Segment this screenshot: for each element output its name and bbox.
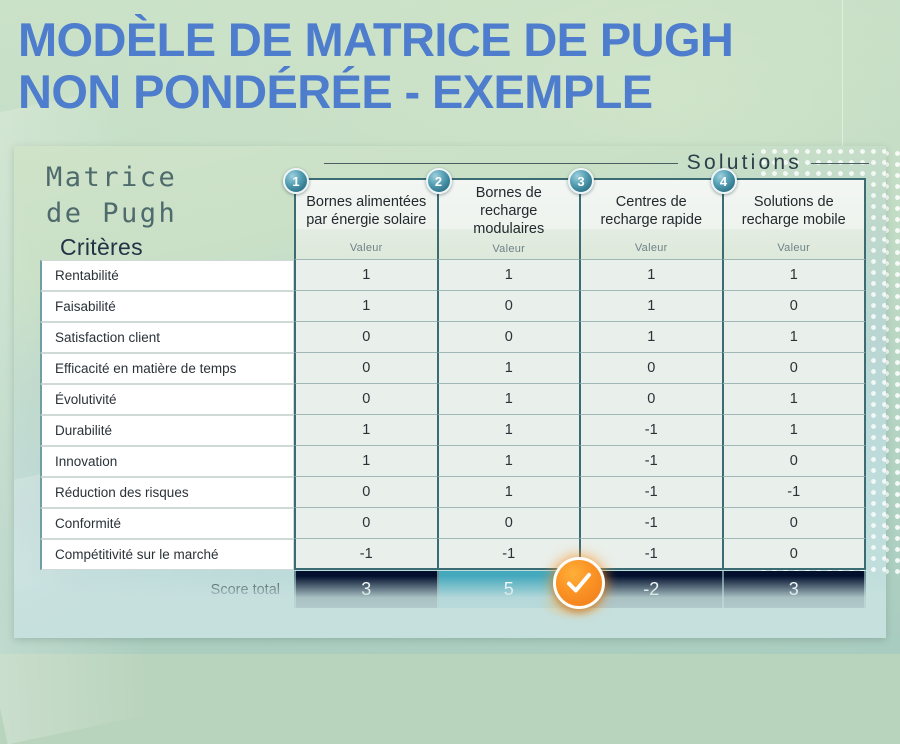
score-cell[interactable]: 1	[722, 384, 867, 415]
solution-name-2: Bornes de recharge modulaires	[439, 180, 580, 238]
criterion-label[interactable]: Efficacité en matière de temps	[40, 353, 294, 384]
solution-subheader-2: Valeur	[439, 238, 580, 259]
score-cell[interactable]: 1	[437, 353, 580, 384]
solution-subheader-3: Valeur	[581, 237, 722, 259]
score-cell[interactable]: -1	[579, 415, 722, 446]
score-cell[interactable]: -1	[579, 477, 722, 508]
table-row: Faisabilité1010	[40, 291, 866, 322]
solution-header-3[interactable]: 3Centres de recharge rapideValeur	[579, 178, 722, 260]
criterion-label[interactable]: Durabilité	[40, 415, 294, 446]
score-cell[interactable]: 0	[437, 322, 580, 353]
criterion-label[interactable]: Satisfaction client	[40, 322, 294, 353]
solutions-header: Solutions	[324, 150, 869, 176]
score-cell[interactable]: -1	[722, 477, 867, 508]
score-cell[interactable]: 0	[437, 508, 580, 539]
score-cell[interactable]: 1	[437, 415, 580, 446]
total-score-value: 5	[504, 579, 514, 600]
solution-name-3: Centres de recharge rapide	[581, 180, 722, 237]
score-cell[interactable]: 1	[437, 446, 580, 477]
score-cell[interactable]: 0	[294, 508, 437, 539]
matrix-card: Matrice de Pugh Critères Solutions 1Born…	[14, 146, 886, 638]
table-row: Compétitivité sur le marché-1-1-10	[40, 539, 866, 570]
score-cell[interactable]: 1	[294, 291, 437, 322]
total-score-value: 3	[361, 579, 371, 600]
solution-header-4[interactable]: 4Solutions de recharge mobileValeur	[722, 178, 867, 260]
criterion-label[interactable]: Faisabilité	[40, 291, 294, 322]
score-cell[interactable]: 1	[437, 260, 580, 291]
score-cell[interactable]: 0	[294, 384, 437, 415]
score-cell[interactable]: 1	[722, 260, 867, 291]
solutions-label: Solutions	[687, 151, 802, 175]
table-row: Innovation11-10	[40, 446, 866, 477]
criterion-label[interactable]: Conformité	[40, 508, 294, 539]
solution-name-1: Bornes alimentées par énergie solaire	[296, 180, 437, 237]
score-cell[interactable]: 0	[294, 477, 437, 508]
total-score-value: -2	[643, 579, 659, 600]
score-cell[interactable]: 1	[579, 322, 722, 353]
score-cell[interactable]: 1	[579, 291, 722, 322]
criterion-label[interactable]: Évolutivité	[40, 384, 294, 415]
table-total-row: Score total 35-23	[40, 571, 866, 608]
page-title: Modèle de matrice de Pugh non pondérée -…	[18, 14, 868, 118]
table-row: Durabilité11-11	[40, 415, 866, 446]
score-cell[interactable]: 0	[579, 353, 722, 384]
score-cell[interactable]: 1	[722, 322, 867, 353]
solution-subheader-4: Valeur	[724, 237, 865, 259]
score-cell[interactable]: -1	[579, 446, 722, 477]
solution-number-badge-2: 2	[426, 168, 452, 194]
solution-number-badge-3: 3	[568, 168, 594, 194]
score-cell[interactable]: 1	[437, 384, 580, 415]
total-score-cell-2[interactable]: 5	[437, 571, 580, 608]
score-cell[interactable]: 0	[579, 384, 722, 415]
solution-subheader-1: Valeur	[296, 237, 437, 259]
score-cell[interactable]: 1	[437, 477, 580, 508]
table-row: Conformité00-10	[40, 508, 866, 539]
score-cell[interactable]: 0	[722, 353, 867, 384]
solutions-rule-right	[811, 163, 869, 164]
solution-number-badge-4: 4	[711, 168, 737, 194]
score-cell[interactable]: 1	[722, 415, 867, 446]
score-cell[interactable]: -1	[579, 539, 722, 570]
header-criteria-spacer	[40, 178, 294, 260]
table-row: Réduction des risques01-1-1	[40, 477, 866, 508]
total-score-cell-1[interactable]: 3	[294, 571, 437, 608]
score-cell[interactable]: 0	[722, 446, 867, 477]
solution-number-badge-1: 1	[283, 168, 309, 194]
score-cell[interactable]: 1	[294, 446, 437, 477]
score-cell[interactable]: 0	[294, 322, 437, 353]
score-cell[interactable]: 1	[294, 260, 437, 291]
score-cell[interactable]: -1	[579, 508, 722, 539]
total-score-cell-4[interactable]: 3	[722, 571, 867, 608]
solution-header-2[interactable]: 2Bornes de recharge modulairesValeur	[437, 178, 580, 260]
score-cell[interactable]: 0	[294, 353, 437, 384]
criterion-label[interactable]: Rentabilité	[40, 260, 294, 291]
table-header-row: 1Bornes alimentées par énergie solaireVa…	[40, 178, 866, 260]
criterion-label[interactable]: Réduction des risques	[40, 477, 294, 508]
score-cell[interactable]: 0	[722, 291, 867, 322]
table-row: Rentabilité1111	[40, 260, 866, 291]
table-row: Évolutivité0101	[40, 384, 866, 415]
score-cell[interactable]: 1	[294, 415, 437, 446]
pugh-matrix-table: 1Bornes alimentées par énergie solaireVa…	[40, 178, 866, 608]
criterion-label[interactable]: Innovation	[40, 446, 294, 477]
score-cell[interactable]: -1	[294, 539, 437, 570]
score-cell[interactable]: -1	[437, 539, 580, 570]
solution-name-4: Solutions de recharge mobile	[724, 180, 865, 237]
total-score-value: 3	[789, 579, 799, 600]
check-icon	[553, 557, 605, 609]
criterion-label[interactable]: Compétitivité sur le marché	[40, 539, 294, 570]
table-row: Satisfaction client0011	[40, 322, 866, 353]
solutions-rule-left	[324, 163, 678, 164]
score-cell[interactable]: 0	[437, 291, 580, 322]
solution-header-1[interactable]: 1Bornes alimentées par énergie solaireVa…	[294, 178, 437, 260]
table-row: Efficacité en matière de temps0100	[40, 353, 866, 384]
score-cell[interactable]: 0	[722, 508, 867, 539]
score-cell[interactable]: 0	[722, 539, 867, 570]
total-row-label: Score total	[40, 571, 294, 608]
score-cell[interactable]: 1	[579, 260, 722, 291]
